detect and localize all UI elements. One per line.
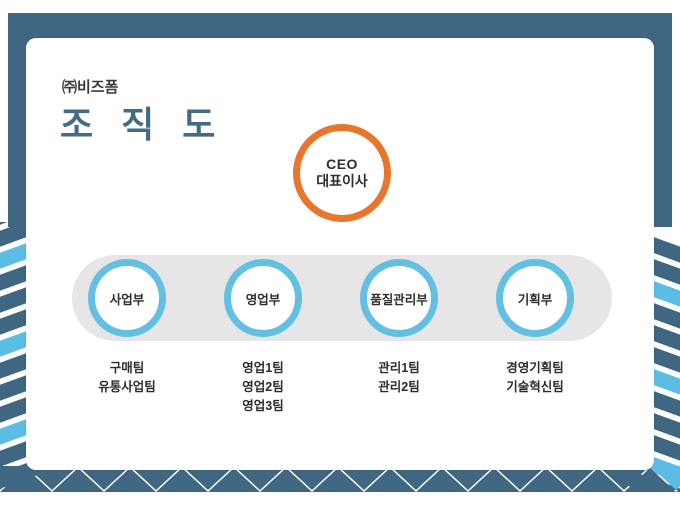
- decorative-zigzag-triangle: [676, 468, 680, 492]
- department-label-2: 품질관리부: [370, 289, 428, 308]
- team-label: 기술혁신팀: [455, 378, 615, 397]
- department-label-0: 사업부: [110, 289, 145, 308]
- org-node-department-0[interactable]: 사업부: [88, 259, 166, 337]
- team-label: 경영기획팀: [455, 359, 615, 378]
- content-card: ㈜비즈폼 조 직 도 CEO 대표이사 사업부 영업부 품질관리부 기획부 구매…: [26, 38, 654, 470]
- org-node-department-1[interactable]: 영업부: [224, 259, 302, 337]
- decorative-zigzag-band: [0, 466, 680, 506]
- team-list-department-3: 경영기획팀기술혁신팀: [455, 359, 615, 397]
- org-node-ceo[interactable]: CEO 대표이사: [293, 124, 391, 222]
- ceo-role-label: CEO: [326, 156, 358, 174]
- organization-chart-slide: ㈜비즈폼 조 직 도 CEO 대표이사 사업부 영업부 품질관리부 기획부 구매…: [0, 0, 680, 510]
- org-node-department-2[interactable]: 품질관리부: [360, 259, 438, 337]
- org-node-department-3[interactable]: 기획부: [496, 259, 574, 337]
- page-title: 조 직 도: [60, 96, 224, 148]
- team-label: 영업3팀: [183, 397, 343, 416]
- company-name: ㈜비즈폼: [62, 76, 118, 97]
- department-label-3: 기획부: [518, 289, 553, 308]
- ceo-title-label: 대표이사: [316, 173, 368, 191]
- department-label-1: 영업부: [246, 289, 281, 308]
